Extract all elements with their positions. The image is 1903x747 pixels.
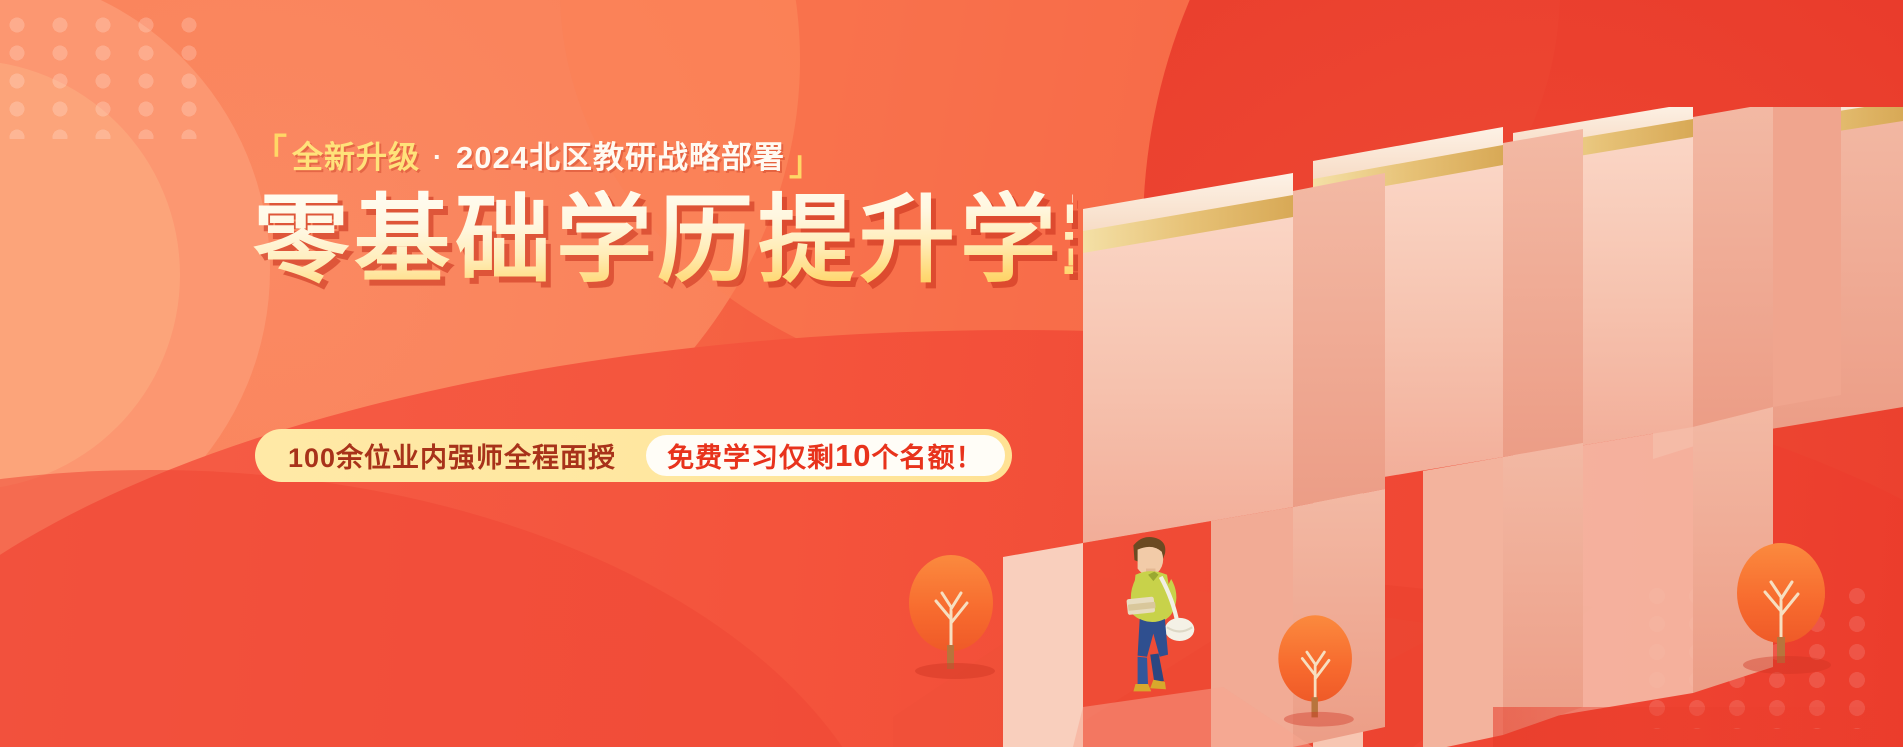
bracket-close-icon: 」 <box>789 147 824 181</box>
eyebrow-highlight: 全新升级 <box>292 142 420 173</box>
page-title: 零基础学历提升学霸班 <box>253 190 1073 292</box>
seats-prefix: 免费学习仅剩 <box>667 436 835 475</box>
headline-block: 「 全新升级 · 2024北区教研战略部署 」 零基础学历提升学霸班 <box>253 140 1073 292</box>
seats-count: 10 <box>835 438 871 474</box>
promo-banner: 「 全新升级 · 2024北区教研战略部署 」 零基础学历提升学霸班 100余位… <box>0 0 1903 747</box>
bracket-open-icon: 「 <box>253 135 288 169</box>
badge-seats-remaining[interactable]: 免费学习仅剩10个名额！ <box>646 435 1004 476</box>
seats-suffix: 个名额！ <box>872 436 984 475</box>
dot-pattern-top-left <box>6 14 220 139</box>
badge-teachers-label: 100余位业内强师全程面授 <box>288 436 646 475</box>
eyebrow-line: 「 全新升级 · 2024北区教研战略部署 」 <box>253 140 1073 174</box>
eyebrow-white-text: 2024北区教研战略部署 <box>456 142 785 173</box>
eyebrow-separator: · <box>424 144 452 171</box>
feature-badge[interactable]: 100余位业内强师全程面授 免费学习仅剩10个名额！ <box>255 429 1012 482</box>
